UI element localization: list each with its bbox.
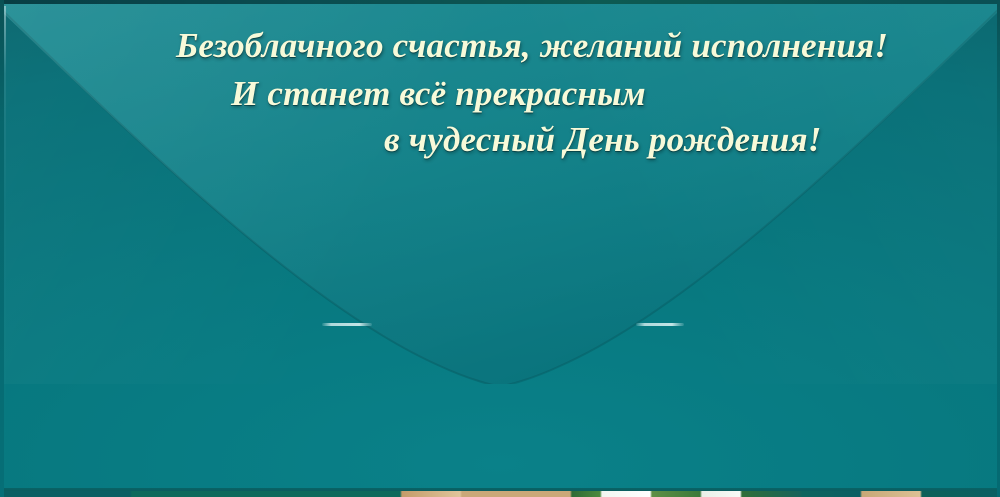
greeting-text-block: Безоблачного счастья, желаний исполнения… [0,0,1000,497]
greeting-line-2: И станет всё прекрасным [231,74,646,114]
greeting-line-3: в чудесный День рождения! [384,120,822,160]
greeting-card: Безоблачного счастья, желаний исполнения… [0,0,1000,497]
greeting-line-1: Безоблачного счастья, желаний исполнения… [176,26,888,66]
